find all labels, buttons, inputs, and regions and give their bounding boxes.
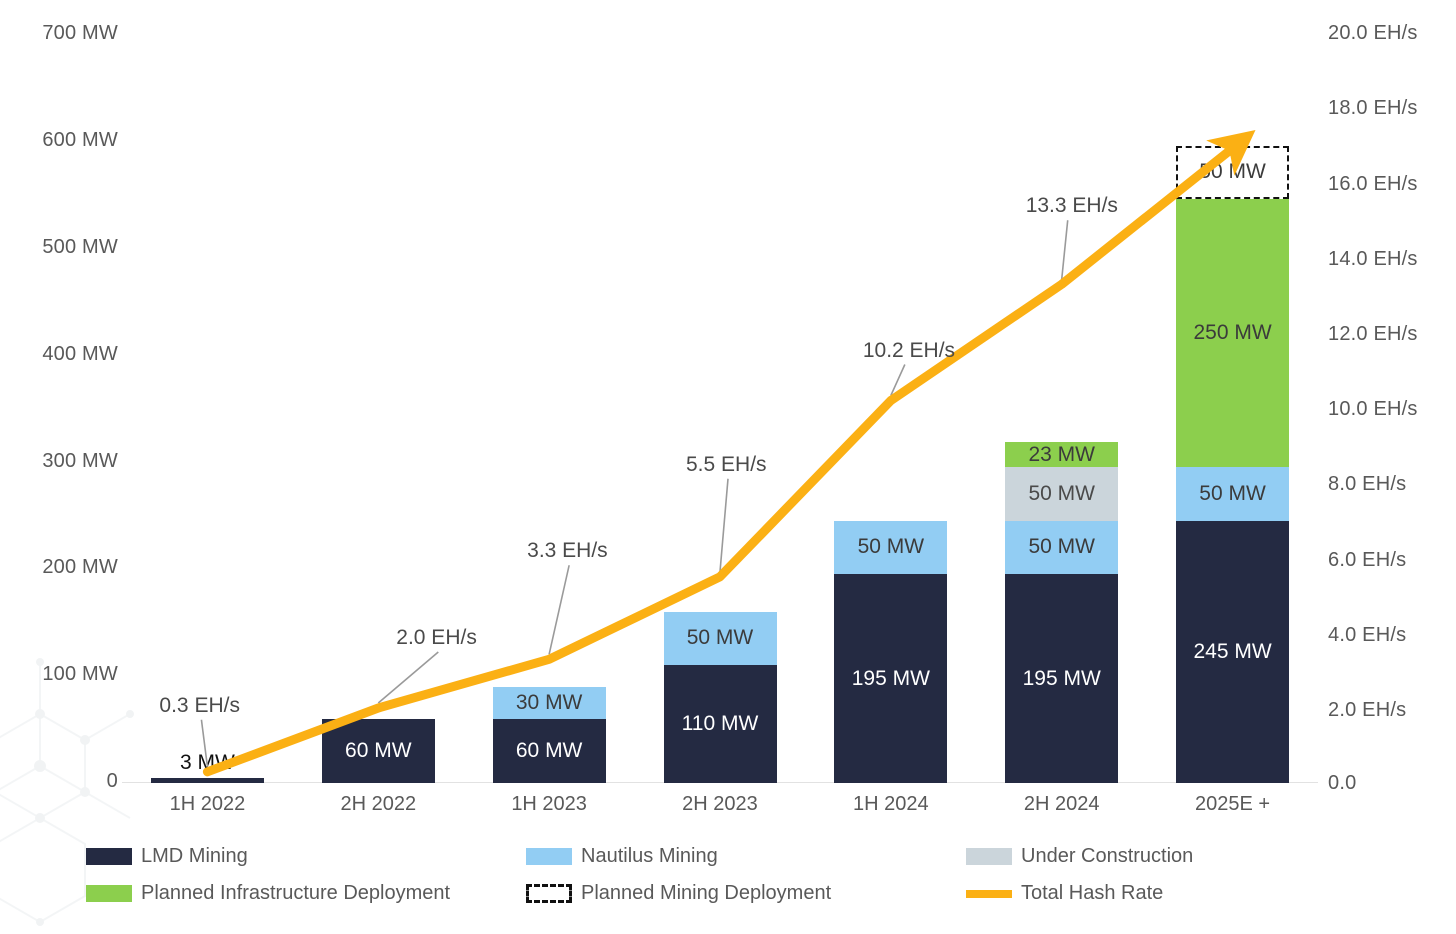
bar-segment-lmd[interactable]: 60 MW (493, 719, 606, 783)
bar-segment-nautilus[interactable]: 50 MW (834, 521, 947, 575)
left-axis-tick: 400 MW (42, 343, 118, 366)
power-and-hashrate-chart: 700 MW 600 MW 500 MW 400 MW 300 MW 200 M… (0, 0, 1456, 924)
bar-segment-value: 50 MW (687, 626, 754, 650)
hash-rate-annotation: 0.3 EH/s (159, 694, 240, 718)
bar-segment-planned[interactable]: 250 MW (1176, 199, 1289, 467)
bar-segment-nautilus[interactable]: 30 MW (493, 687, 606, 719)
hash-rate-annotation: 5.5 EH/s (686, 453, 767, 477)
legend-swatch-uc-icon (966, 848, 1012, 865)
bar-segment-value: 50 MW (1199, 482, 1266, 506)
bar-segment-lmd[interactable]: 195 MW (1005, 574, 1118, 783)
hash-rate-annotation: 2.0 EH/s (396, 626, 477, 650)
bar-segment-value: 30 MW (516, 691, 583, 715)
bar-segment-value: 50 MW (1028, 535, 1095, 559)
left-axis-tick: 100 MW (42, 663, 118, 686)
right-axis-tick: 20.0 EH/s (1328, 22, 1418, 45)
right-axis-tick: 10.0 EH/s (1328, 398, 1418, 421)
hash-rate-annotation: 3.3 EH/s (527, 539, 608, 563)
right-axis-tick: 18.0 EH/s (1328, 97, 1418, 120)
right-axis-tick: 6.0 EH/s (1328, 549, 1406, 572)
bar-segment-lmd[interactable]: 110 MW (664, 665, 777, 783)
bar-segment-lmd[interactable]: 60 MW (322, 719, 435, 783)
right-axis-tick: 8.0 EH/s (1328, 473, 1406, 496)
legend-item-lmd[interactable]: LMD Mining (86, 845, 526, 868)
chart-legend: LMD MiningNautilus MiningUnder Construct… (86, 838, 1376, 912)
bar-segment-value: 50 MW (1199, 160, 1266, 184)
legend-swatch-dashed-icon (526, 884, 572, 903)
bar-segment-value: 245 MW (1193, 640, 1271, 664)
bar-segment-value: 3 MW (151, 751, 264, 775)
legend-item-dashed[interactable]: Planned Mining Deployment (526, 882, 966, 905)
legend-item-line[interactable]: Total Hash Rate (966, 882, 1376, 905)
legend-label: Under Construction (1021, 845, 1193, 868)
x-axis-label-1h-2022: 1H 2022 (122, 793, 293, 816)
bar-segment-value: 23 MW (1028, 443, 1095, 467)
right-axis-tick: 0.0 (1328, 772, 1356, 795)
legend-swatch-planned-icon (86, 885, 132, 902)
hash-rate-annotation: 13.3 EH/s (1026, 194, 1118, 218)
bar-segment-lmd[interactable]: 245 MW (1176, 521, 1289, 784)
left-axis-tick: 300 MW (42, 450, 118, 473)
bar-segment-value: 60 MW (345, 739, 412, 763)
x-axis-label-2h-2022: 2H 2022 (293, 793, 464, 816)
bar-segment-value: 195 MW (852, 667, 930, 691)
left-axis-tick: 0 (107, 770, 118, 793)
legend-swatch-lmd-icon (86, 848, 132, 865)
legend-item-planned[interactable]: Planned Infrastructure Deployment (86, 882, 526, 905)
legend-item-uc[interactable]: Under Construction (966, 845, 1376, 868)
legend-label: Planned Mining Deployment (581, 882, 831, 905)
x-axis-label-2h-2024: 2H 2024 (976, 793, 1147, 816)
bar-segment-nautilus[interactable]: 50 MW (1005, 521, 1118, 575)
bar-segment-lmd[interactable]: 195 MW (834, 574, 947, 783)
x-axis-label-2h-2023: 2H 2023 (635, 793, 806, 816)
right-axis-tick: 12.0 EH/s (1328, 323, 1418, 346)
legend-item-nautilus[interactable]: Nautilus Mining (526, 845, 966, 868)
hash-rate-annotation: 10.2 EH/s (863, 339, 955, 363)
bar-segment-value: 110 MW (682, 712, 759, 736)
left-axis-tick: 500 MW (42, 236, 118, 259)
legend-swatch-nautilus-icon (526, 848, 572, 865)
x-axis-label-1h-2023: 1H 2023 (464, 793, 635, 816)
left-axis-tick: 200 MW (42, 556, 118, 579)
x-axis-label-1h-2024: 1H 2024 (805, 793, 976, 816)
right-axis-tick: 14.0 EH/s (1328, 248, 1418, 271)
bar-segment-value: 50 MW (1028, 482, 1095, 506)
left-axis-tick: 700 MW (42, 22, 118, 45)
bar-segment-nautilus[interactable]: 50 MW (664, 612, 777, 666)
right-axis-tick: 2.0 EH/s (1328, 699, 1406, 722)
bar-segment-value: 250 MW (1193, 321, 1271, 345)
bar-segment-lmd[interactable]: 3 MW (151, 778, 264, 783)
bar-segment-planned[interactable]: 23 MW (1005, 442, 1118, 467)
bar-segment-value: 195 MW (1023, 667, 1101, 691)
bar-segment-value: 60 MW (516, 739, 583, 763)
legend-label: Planned Infrastructure Deployment (141, 882, 450, 905)
bar-segment-nautilus[interactable]: 50 MW (1176, 467, 1289, 521)
right-axis-tick: 16.0 EH/s (1328, 173, 1418, 196)
legend-label: Total Hash Rate (1021, 882, 1163, 905)
legend-label: Nautilus Mining (581, 845, 718, 868)
bar-segment-uc[interactable]: 50 MW (1005, 467, 1118, 521)
left-axis-tick: 600 MW (42, 129, 118, 152)
bar-segment-dashed[interactable]: 50 MW (1176, 146, 1289, 200)
legend-swatch-line-icon (966, 890, 1012, 898)
x-axis-label-2025e: 2025E + (1147, 793, 1318, 816)
legend-label: LMD Mining (141, 845, 248, 868)
bar-segment-value: 50 MW (858, 535, 925, 559)
right-axis-tick: 4.0 EH/s (1328, 624, 1406, 647)
